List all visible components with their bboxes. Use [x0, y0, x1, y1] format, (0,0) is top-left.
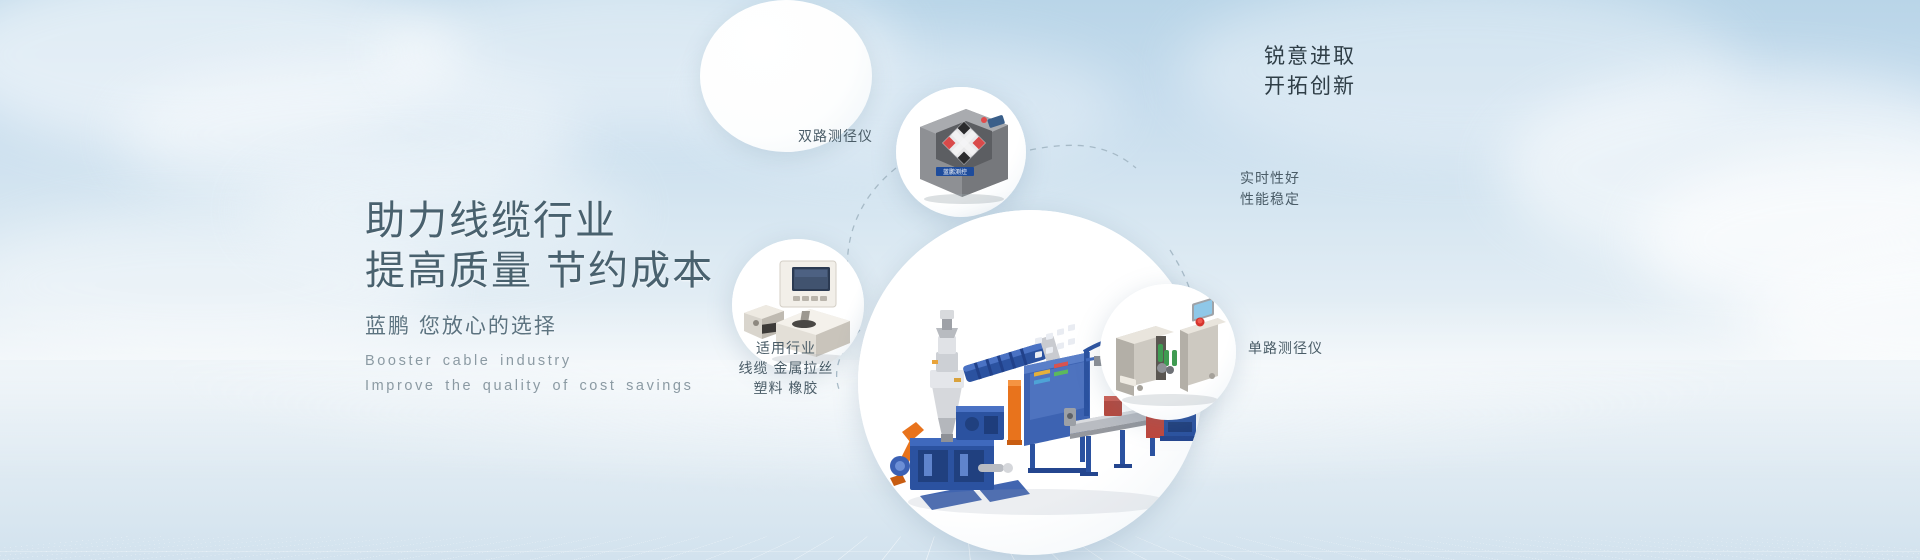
slogan-line-1: 锐意进取 — [700, 42, 1920, 72]
slogan-text: 锐意进取 开拓创新 — [700, 42, 1920, 102]
single-gauge-illustration — [1100, 284, 1236, 420]
label-performance: 实时性好 性能稳定 — [1240, 168, 1300, 210]
label-industry: 适用行业 线缆 金属拉丝 塑料 橡胶 — [716, 338, 856, 398]
industry-line-2: 塑料 橡胶 — [716, 378, 856, 398]
dual-gauge-illustration: 蓝鹏测控 — [896, 87, 1026, 217]
hero-banner: 助力线缆行业 提高质量 节约成本 蓝鹏 您放心的选择 Booster cable… — [0, 0, 1920, 560]
performance-line-1: 实时性好 — [1240, 168, 1300, 189]
slogan-line-2: 开拓创新 — [700, 72, 1920, 102]
cloud-decoration — [120, 60, 580, 210]
performance-line-2: 性能稳定 — [1240, 189, 1300, 210]
label-single-gauge: 单路测径仪 — [1248, 338, 1323, 358]
industry-line-1: 线缆 金属拉丝 — [716, 358, 856, 378]
industry-title: 适用行业 — [716, 338, 856, 358]
cloud-decoration — [0, 0, 460, 150]
product-composition: 蓝鹏测控 双路测径仪 锐意进取 开拓创新 实时性好 性能稳定 — [700, 0, 1920, 560]
label-dual-gauge: 双路测径仪 — [798, 126, 873, 146]
product-bubble-dual-gauge[interactable]: 蓝鹏测控 — [896, 87, 1026, 217]
svg-text:蓝鹏测控: 蓝鹏测控 — [943, 168, 967, 176]
product-bubble-single-gauge[interactable] — [1100, 284, 1236, 420]
